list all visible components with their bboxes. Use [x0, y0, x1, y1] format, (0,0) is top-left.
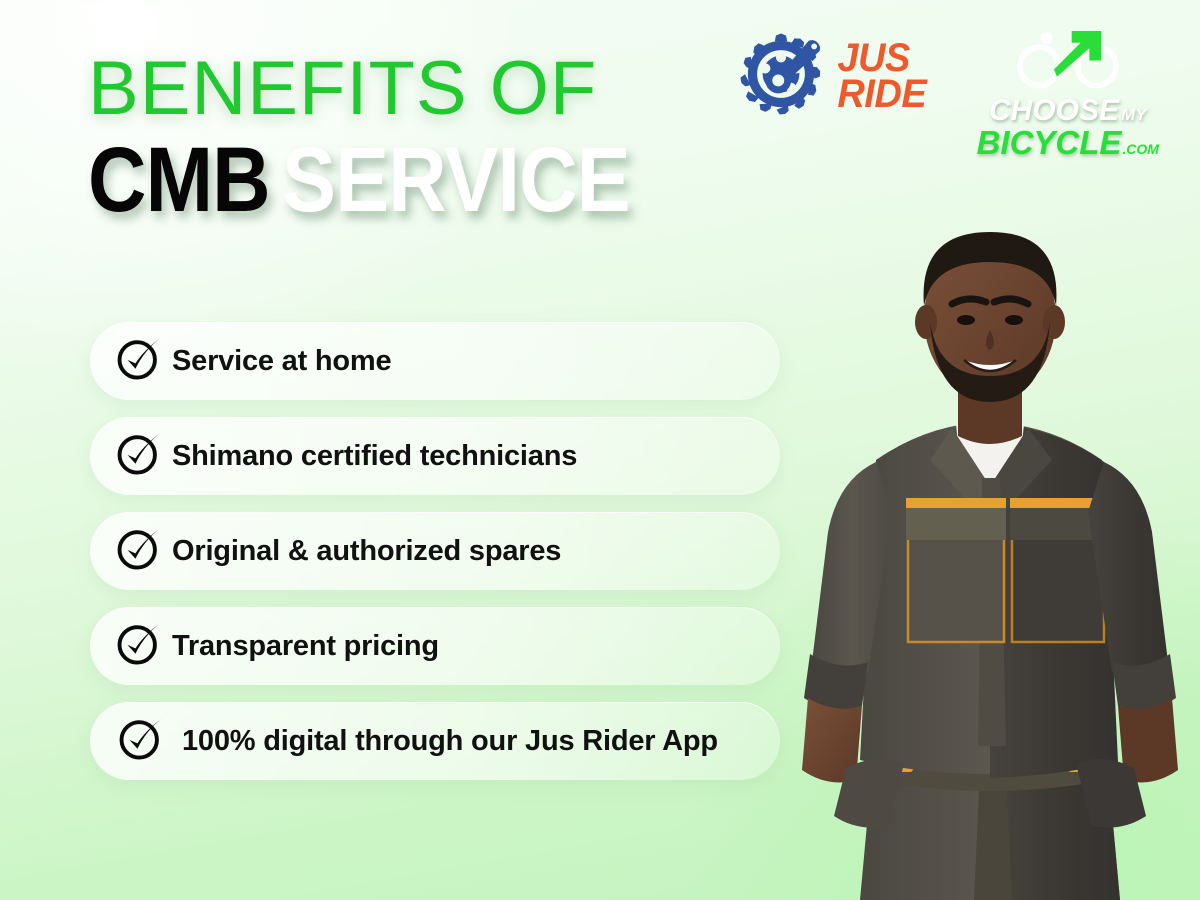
circled-checkmark-icon	[116, 621, 162, 667]
benefit-label: Original & authorized spares	[172, 535, 561, 568]
benefit-label: Transparent pricing	[172, 630, 439, 663]
benefit-label: 100% digital through our Jus Rider App	[182, 725, 718, 758]
headline-service-word: SERVICE	[282, 129, 630, 231]
benefit-item-3[interactable]: Original & authorized spares	[90, 512, 780, 590]
benefit-item-5[interactable]: 100% digital through our Jus Rider App	[90, 702, 780, 780]
jusride-word-2: RIDE	[837, 77, 926, 112]
circled-checkmark-icon	[116, 526, 162, 572]
benefit-item-2[interactable]: Shimano certified technicians	[90, 417, 780, 495]
choosemybicycle-wordmark-line-1: CHOOSE MY	[989, 96, 1147, 126]
headline-brand-word: CMB	[88, 129, 270, 231]
headline-block: BENEFITS OF CMBSERVICE	[88, 52, 728, 226]
circled-checkmark-icon	[116, 431, 162, 477]
bicycle-chainring-icon	[735, 28, 827, 125]
benefits-list: Service at home Shimano certified techni…	[90, 322, 780, 797]
bicycle-arrow-icon	[1012, 28, 1124, 94]
benefit-label: Service at home	[172, 345, 391, 378]
my-word: MY	[1121, 106, 1147, 123]
technician-photo	[780, 210, 1200, 900]
benefit-label: Shimano certified technicians	[172, 440, 577, 473]
jusride-logo[interactable]: JUS RIDE	[735, 28, 929, 125]
jusride-wordmark: JUS RIDE	[837, 41, 926, 111]
choose-word: CHOOSE	[989, 96, 1119, 126]
choosemybicycle-wordmark-line-2: BICYCLE .COM	[977, 126, 1159, 159]
bicycle-word: BICYCLE	[977, 126, 1122, 159]
benefit-item-1[interactable]: Service at home	[90, 322, 780, 400]
circled-checkmark-icon	[118, 716, 164, 762]
circled-checkmark-icon	[116, 336, 162, 382]
benefits-banner: BENEFITS OF CMBSERVICE	[0, 0, 1200, 900]
headline-line-2: CMBSERVICE	[88, 134, 651, 226]
dotcom-suffix: .COM	[1122, 142, 1159, 156]
choosemybicycle-logo[interactable]: CHOOSE MY BICYCLE .COM	[977, 28, 1159, 159]
benefit-item-4[interactable]: Transparent pricing	[90, 607, 780, 685]
logo-strip: JUS RIDE	[735, 28, 1159, 159]
headline-line-1: BENEFITS OF	[88, 52, 728, 126]
